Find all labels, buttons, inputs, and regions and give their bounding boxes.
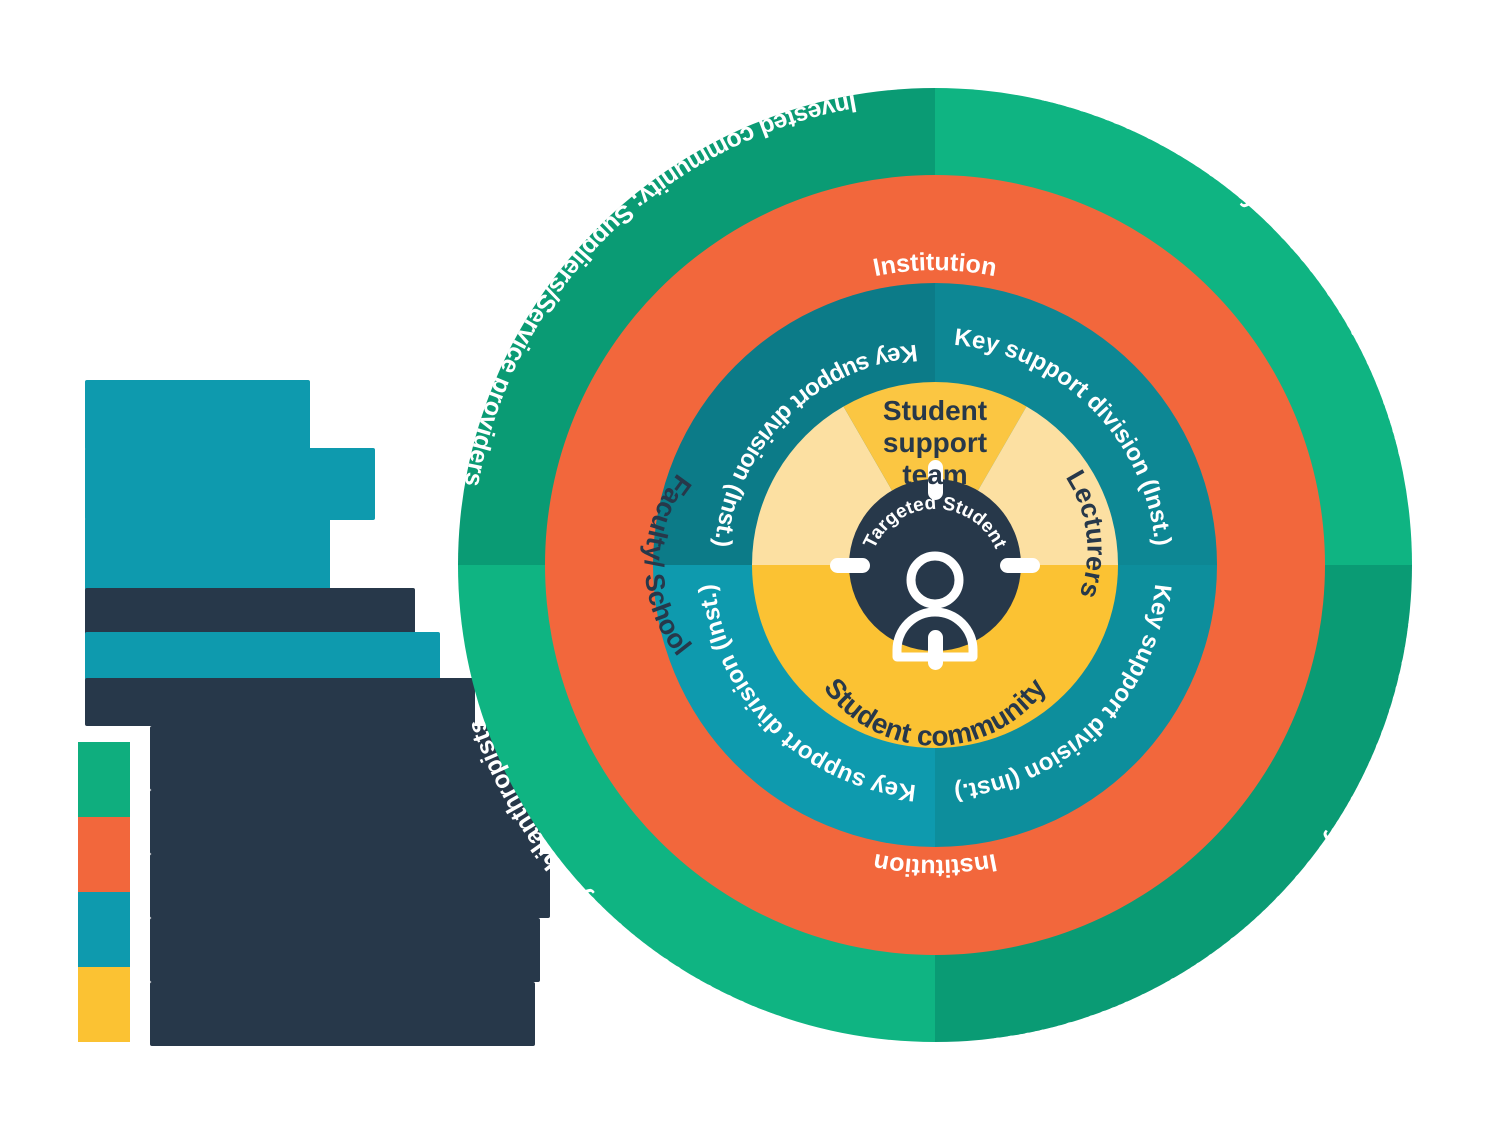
svg-text:support: support [883,427,987,458]
svg-text:team: team [902,459,967,490]
tick-west [830,558,870,573]
tick-east [1000,558,1040,573]
tick-south [928,630,943,670]
diagram-page: Invested community: Suppliers/Service pr… [0,0,1500,1129]
svg-text:Student: Student [883,395,987,426]
stakeholder-circle-diagram: Invested community: Suppliers/Service pr… [0,0,1500,1129]
